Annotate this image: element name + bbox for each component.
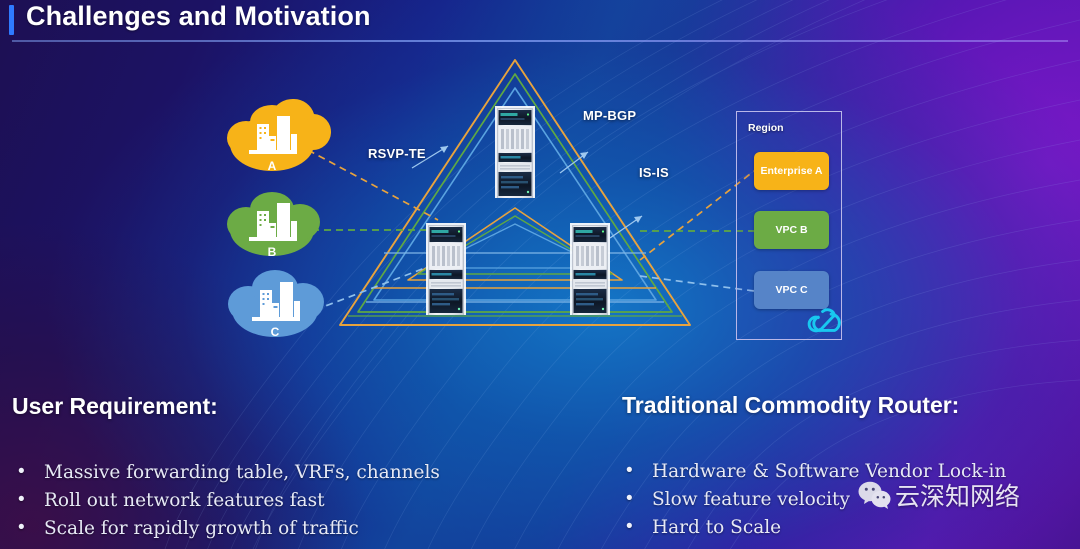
cloud-b-label: B (268, 245, 277, 259)
title-bar: Challenges and Motivation (0, 0, 1080, 40)
label-is-is: IS-IS (639, 165, 669, 180)
region-box-enterprise-a[interactable]: Enterprise A (754, 152, 829, 190)
arrow-mpbgp-head (580, 152, 588, 159)
left-column-heading: User Requirement: (12, 393, 218, 420)
router-right (570, 223, 610, 318)
network-topology-diagram: A B (0, 48, 1080, 368)
watermark: 云深知网络 (858, 477, 1020, 513)
list-item: Massive forwarding table, VRFs, channels (14, 459, 614, 487)
wechat-icon (858, 480, 892, 510)
label-mp-bgp: MP-BGP (583, 108, 636, 123)
router-left (426, 223, 466, 318)
list-item: Hard to Scale (622, 514, 1080, 542)
list-item: Scale for rapidly growth of traffic (14, 515, 614, 543)
cloud-b: B (227, 192, 320, 259)
cloud-c: C (228, 270, 324, 339)
cloud-to-router-links (308, 150, 438, 310)
region-box-vpc-b[interactable]: VPC B (754, 211, 829, 249)
title-divider (12, 40, 1068, 42)
page-title: Challenges and Motivation (26, 1, 371, 32)
label-rsvp-te: RSVP-TE (368, 146, 426, 161)
slide-canvas: Challenges and Motivation (0, 0, 1080, 549)
watermark-text: 云深知网络 (895, 477, 1020, 513)
arrow-isis-head (634, 216, 642, 223)
region-title: Region (748, 122, 784, 134)
title-accent-bar (9, 5, 14, 35)
cloud-a: A (227, 99, 331, 173)
router-top (495, 106, 535, 201)
cloud-brand-logo-icon (805, 303, 847, 339)
right-column-heading: Traditional Commodity Router: (622, 392, 959, 419)
left-column-bullets: Massive forwarding table, VRFs, channels… (14, 459, 614, 543)
list-item: Roll out network features fast (14, 487, 614, 515)
cloud-c-label: C (271, 325, 280, 339)
cloud-a-label: A (268, 159, 277, 173)
